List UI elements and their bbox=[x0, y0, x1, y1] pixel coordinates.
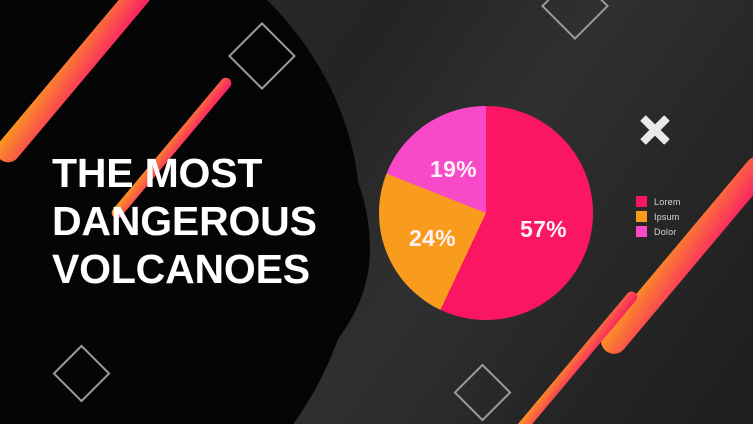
legend-label-dolor: Dolor bbox=[654, 227, 677, 237]
legend-item-ipsum[interactable]: Ipsum bbox=[636, 211, 681, 222]
legend-item-lorem[interactable]: Lorem bbox=[636, 196, 681, 207]
chart-legend: Lorem Ipsum Dolor bbox=[636, 196, 681, 241]
legend-swatch-ipsum bbox=[636, 211, 647, 222]
legend-item-dolor[interactable]: Dolor bbox=[636, 226, 681, 237]
legend-swatch-lorem bbox=[636, 196, 647, 207]
legend-swatch-dolor bbox=[636, 226, 647, 237]
legend-label-ipsum: Ipsum bbox=[654, 212, 680, 222]
pie-disc bbox=[379, 106, 593, 320]
pie-label-lorem: 57% bbox=[520, 216, 567, 243]
page-title: THE MOST DANGEROUS VOLCANOES bbox=[52, 149, 317, 293]
pie-chart: 57% 24% 19% bbox=[379, 106, 593, 320]
slide-canvas: THE MOST DANGEROUS VOLCANOES 57% 24% 19%… bbox=[0, 0, 753, 424]
x-mark-icon bbox=[638, 113, 672, 147]
pie-label-ipsum: 24% bbox=[409, 225, 456, 252]
pie-label-dolor: 19% bbox=[430, 156, 477, 183]
legend-label-lorem: Lorem bbox=[654, 197, 681, 207]
